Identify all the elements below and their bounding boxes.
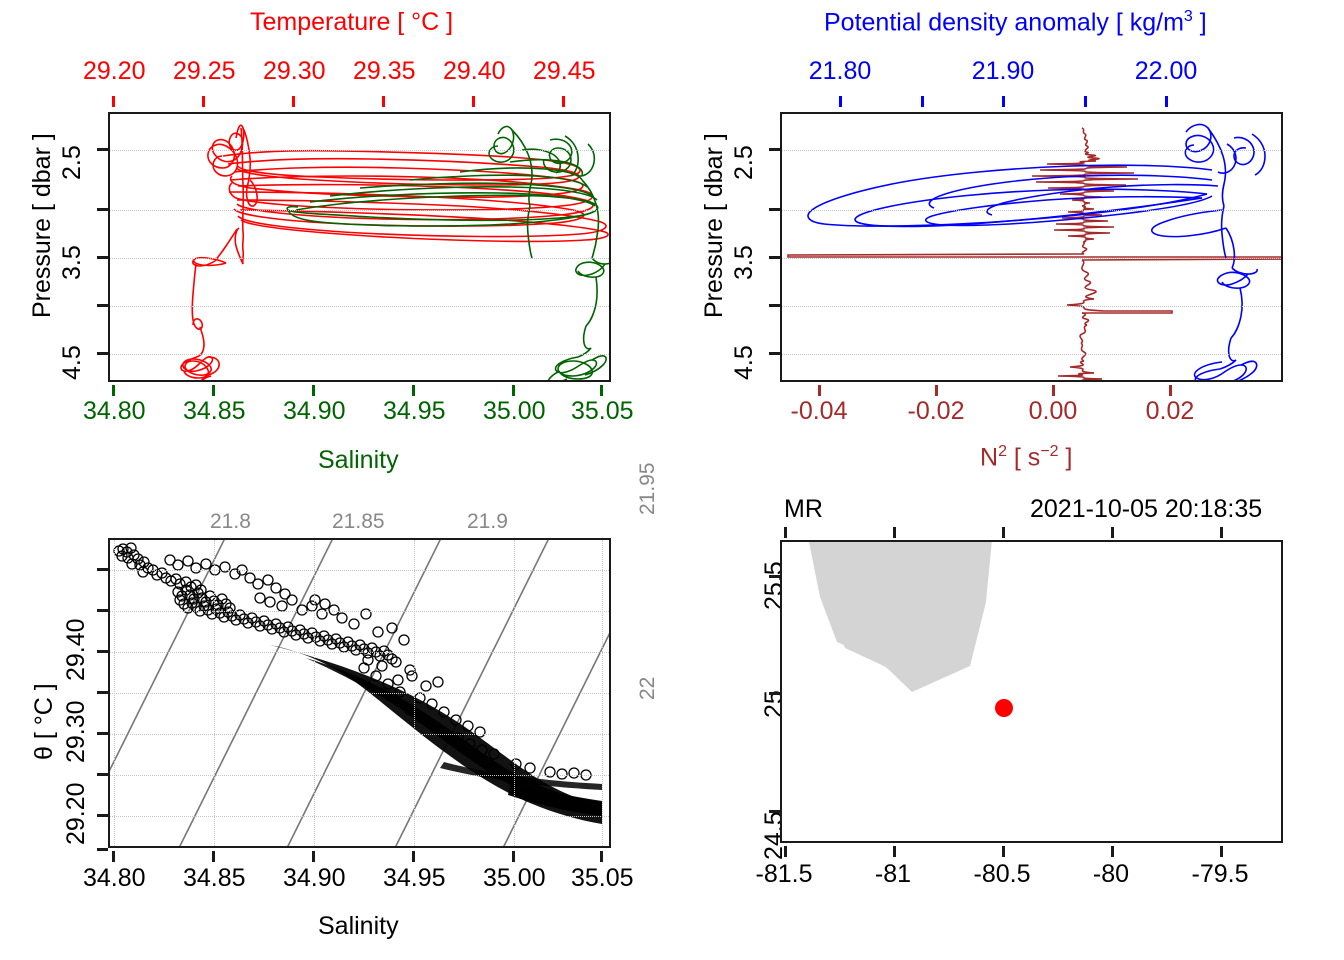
gridline — [110, 652, 609, 653]
pressure-tick — [769, 208, 780, 211]
profile-plot-area — [108, 112, 611, 382]
temperature-tick-label: 29.35 — [353, 57, 413, 86]
theta-tick-label: 29.40 — [62, 618, 91, 681]
density-tick — [839, 96, 842, 107]
theta-tick-label: 29.20 — [62, 782, 91, 845]
n2-tick-label: 0.02 — [1130, 397, 1210, 426]
pressure-tick — [769, 148, 780, 151]
salinity-tick-label: 34.95 — [383, 864, 443, 893]
density-tick — [1165, 96, 1168, 107]
pressure-tick-label: 2.5 — [730, 145, 759, 180]
map-top-tick — [784, 527, 787, 538]
temperature-tick-label: 29.30 — [263, 57, 323, 86]
salinity-tick — [212, 385, 215, 396]
longitude-tick — [1111, 846, 1114, 857]
gridline — [110, 816, 609, 817]
map-top-tick — [893, 527, 896, 538]
salinity-tick-label: 34.85 — [183, 864, 243, 893]
gridline — [782, 354, 1281, 355]
isopycnal-label: 21.95 — [636, 462, 660, 515]
temperature-axis-title: Temperature [ °C ] — [250, 8, 453, 37]
salinity-tick — [312, 385, 315, 396]
gridline — [114, 540, 115, 846]
ts-data-points — [114, 543, 443, 691]
theta-axis-title: θ [ °C ] — [30, 683, 59, 760]
map-timestamp-label: 2021-10-05 20:18:35 — [1030, 495, 1262, 524]
gridline — [110, 734, 609, 735]
density-tick-label: 22.00 — [1126, 57, 1206, 86]
gridline — [110, 693, 609, 694]
salinity-tick — [412, 851, 415, 862]
gridline — [782, 306, 1281, 307]
isopycnal-label: 21.8 — [210, 510, 251, 534]
pressure-tick — [769, 304, 780, 307]
map-left-label: MR — [784, 495, 823, 524]
salinity-tick — [600, 385, 603, 396]
salinity-tick — [412, 385, 415, 396]
ts-plot-area — [108, 538, 611, 848]
gridline — [110, 354, 609, 355]
gridline — [602, 540, 603, 846]
gridline — [110, 570, 609, 571]
salinity-tick-label: 34.80 — [83, 397, 143, 426]
longitude-tick-label: -80 — [1071, 860, 1151, 889]
gridline — [110, 210, 609, 211]
longitude-tick-label: -79.5 — [1180, 860, 1260, 889]
salinity-tick — [112, 385, 115, 396]
theta-tick — [97, 848, 108, 851]
theta-tick — [97, 568, 108, 571]
gridline — [214, 540, 215, 846]
pressure-tick — [769, 352, 780, 355]
longitude-tick — [1002, 846, 1005, 857]
n2-tick — [818, 385, 821, 396]
pressure-tick — [97, 148, 108, 151]
theta-tick — [97, 814, 108, 817]
isopycnal-label: 21.9 — [467, 510, 508, 534]
n2-tick — [935, 385, 938, 396]
density-curve — [808, 125, 1265, 382]
pressure-axis-title: Pressure [ dbar ] — [700, 133, 729, 318]
n2-tick-label: -0.04 — [779, 397, 859, 426]
salinity-axis-title: Salinity — [318, 446, 399, 475]
ts-salinity-axis-title: Salinity — [318, 912, 399, 941]
theta-tick-label: 29.30 — [62, 700, 91, 763]
isopycnal-label: 21.85 — [332, 510, 385, 534]
longitude-tick-label: -81.5 — [744, 860, 824, 889]
pressure-tick-label: 4.5 — [730, 345, 759, 380]
salinity-tick — [512, 851, 515, 862]
gridline — [110, 306, 609, 307]
density-tick — [921, 96, 924, 107]
salinity-tick — [512, 385, 515, 396]
salinity-tick-label: 34.90 — [283, 397, 343, 426]
density-plot-area — [780, 112, 1283, 382]
profile-curves — [110, 114, 611, 382]
latitude-tick — [769, 692, 780, 695]
temperature-tick — [202, 96, 205, 107]
theta-tick — [97, 773, 108, 776]
gridline — [782, 210, 1281, 211]
gridline — [314, 540, 315, 846]
salinity-tick-label: 35.00 — [483, 864, 543, 893]
map-top-tick — [1002, 527, 1005, 538]
n2-axis-title: N2 [ s−2 ] — [980, 443, 1072, 472]
longitude-tick — [784, 846, 787, 857]
pressure-tick-label: 3.5 — [730, 245, 759, 280]
gridline — [110, 150, 609, 151]
theta-tick — [97, 732, 108, 735]
pressure-axis-title: Pressure [ dbar ] — [28, 133, 57, 318]
temperature-tick-label: 29.20 — [83, 57, 143, 86]
gridline — [110, 611, 609, 612]
density-tick — [1084, 96, 1087, 107]
salinity-tick-label: 34.95 — [383, 397, 443, 426]
map-plot-area — [780, 540, 1283, 843]
map-top-tick — [1220, 527, 1223, 538]
n2-tick — [1169, 385, 1172, 396]
salinity-tick — [600, 851, 603, 862]
ts-scatter — [110, 540, 611, 848]
salinity-tick-label: 34.85 — [183, 397, 243, 426]
n2-tick — [1052, 385, 1055, 396]
pressure-tick — [97, 208, 108, 211]
gridline — [414, 540, 415, 846]
n2-curve — [788, 128, 1283, 382]
salinity-tick-label: 34.80 — [83, 864, 143, 893]
gridline — [110, 258, 609, 259]
pressure-tick-label: 4.5 — [58, 345, 87, 380]
longitude-tick-label: -80.5 — [962, 860, 1042, 889]
station-marker[interactable] — [995, 699, 1013, 717]
isopycnal-label: 22 — [636, 677, 660, 700]
gridline — [110, 775, 609, 776]
longitude-tick — [1220, 846, 1223, 857]
theta-tick — [97, 650, 108, 653]
latitude-tick — [769, 575, 780, 578]
n2-tick-label: 0.00 — [1013, 397, 1093, 426]
density-tick-label: 21.90 — [963, 57, 1043, 86]
salinity-tick — [312, 851, 315, 862]
figure-canvas: Temperature [ °C ] 29.20 29.25 29.30 29.… — [0, 0, 1344, 960]
temperature-tick — [112, 96, 115, 107]
temperature-tick — [562, 96, 565, 107]
salinity-tick-label: 35.05 — [571, 397, 631, 426]
n2-tick-label: -0.02 — [896, 397, 976, 426]
pressure-tick-label: 2.5 — [58, 145, 87, 180]
pressure-tick — [769, 256, 780, 259]
land-polygon-florida — [815, 540, 992, 692]
density-axis-title: Potential density anomaly [ kg/m3 ] — [824, 8, 1207, 37]
temperature-tick — [382, 96, 385, 107]
temperature-tick-label: 29.45 — [533, 57, 593, 86]
map-graphics — [782, 542, 1283, 843]
gridline — [782, 258, 1281, 259]
theta-tick — [97, 691, 108, 694]
pressure-tick — [97, 352, 108, 355]
temperature-tick-label: 29.25 — [173, 57, 233, 86]
density-tick-label: 21.80 — [800, 57, 880, 86]
salinity-tick-label: 35.05 — [571, 864, 631, 893]
latitude-tick — [769, 810, 780, 813]
salinity-tick — [212, 851, 215, 862]
salinity-tick-label: 35.00 — [483, 397, 543, 426]
temperature-tick — [292, 96, 295, 107]
salinity-tick — [112, 851, 115, 862]
pressure-tick-label: 3.5 — [58, 245, 87, 280]
salinity-tick-label: 34.90 — [283, 864, 343, 893]
temperature-tick-label: 29.40 — [443, 57, 503, 86]
density-n2-curves — [782, 114, 1283, 382]
pressure-tick — [97, 256, 108, 259]
theta-tick — [97, 609, 108, 612]
salinity-curve — [287, 127, 611, 382]
temperature-tick — [472, 96, 475, 107]
pressure-tick — [97, 304, 108, 307]
longitude-tick — [893, 846, 896, 857]
gridline — [782, 150, 1281, 151]
longitude-tick-label: -81 — [853, 860, 933, 889]
gridline — [514, 540, 515, 846]
density-tick — [1002, 96, 1005, 107]
map-top-tick — [1111, 527, 1114, 538]
